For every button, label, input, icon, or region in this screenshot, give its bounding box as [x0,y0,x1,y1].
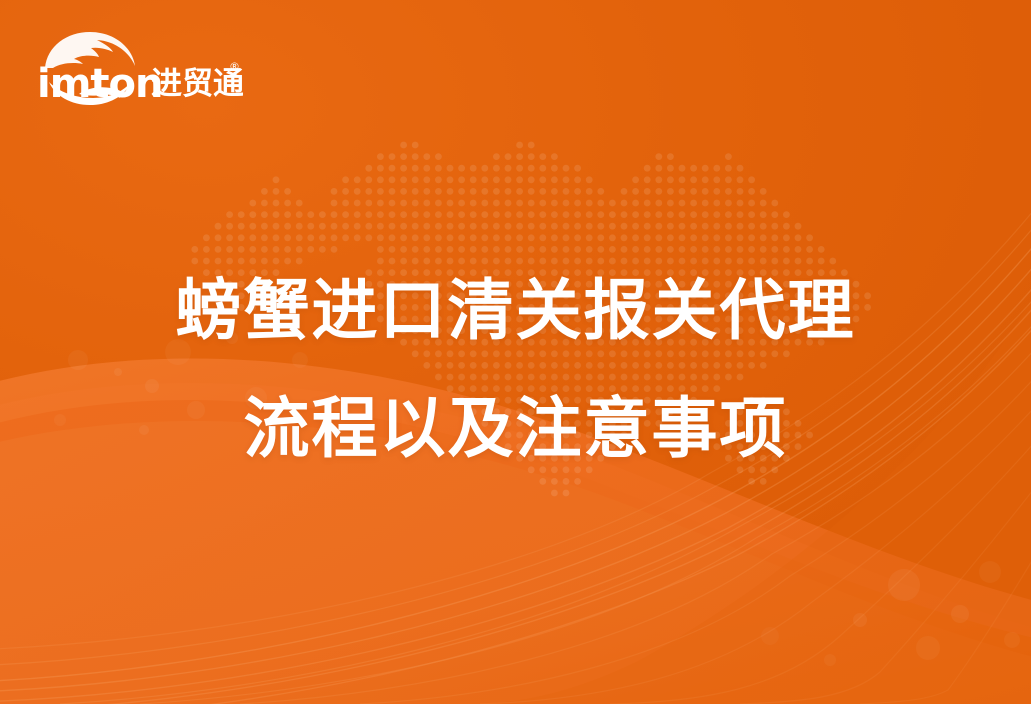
headline-line-1: 螃蟹进口清关报关代理 [0,252,1031,370]
brand-logo[interactable]: imton 进贸通 ® [33,24,243,108]
logo-trademark-symbol: ® [229,60,240,73]
promo-banner: imton 进贸通 ® 螃蟹进口清关报关代理 流程以及注意事项 [0,0,1031,704]
headline: 螃蟹进口清关报关代理 流程以及注意事项 [0,252,1031,488]
logo-wordmark: imton [37,61,162,107]
headline-line-2: 流程以及注意事项 [0,370,1031,488]
